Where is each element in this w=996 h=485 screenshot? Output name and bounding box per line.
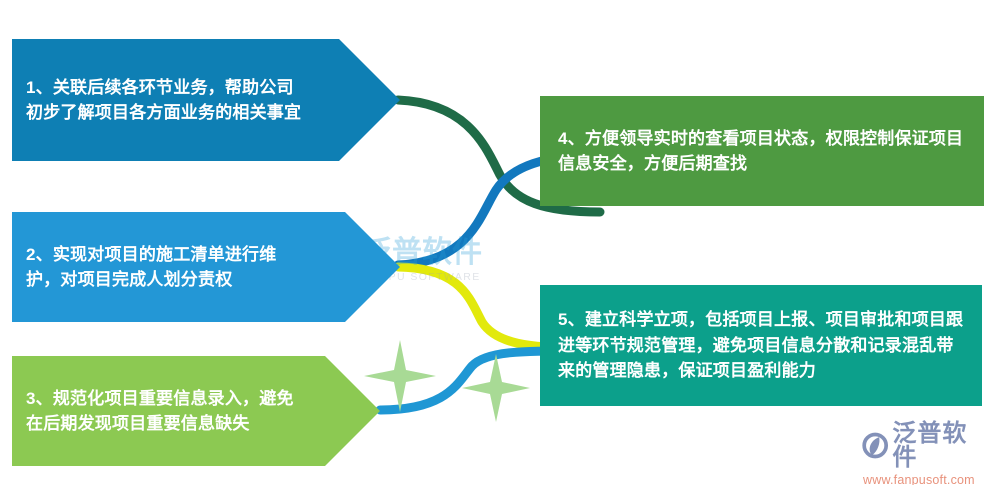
node-3-label: 3、规范化项目重要信息录入，避免在后期发现项目重要信息缺失 xyxy=(12,386,400,437)
diagram-canvas: 泛普软件 FANPU SOFTWARE 1、关联后续各环节业务，帮助公司初步了解… xyxy=(0,0,996,485)
brand-url: www.fanpusoft.com xyxy=(863,473,975,485)
node-3-arrow-box[interactable]: 3、规范化项目重要信息录入，避免在后期发现项目重要信息缺失 xyxy=(12,356,400,466)
node-2-arrow-box[interactable]: 2、实现对项目的施工清单进行维护，对项目完成人划分责权 xyxy=(12,212,400,322)
brand-row: 泛普软件 xyxy=(862,422,990,470)
brand-name-cn: 泛普软件 xyxy=(892,422,990,470)
node-1-arrow-box[interactable]: 1、关联后续各环节业务，帮助公司初步了解项目各方面业务的相关事宜 xyxy=(12,39,400,161)
sparkle-star-right xyxy=(462,354,530,422)
node-4-rect-box[interactable]: 4、方便领导实时的查看项目状态，权限控制保证项目信息安全，方便后期查找 xyxy=(540,96,984,206)
fanpu-mark-icon xyxy=(862,432,888,459)
node-5-rect-box[interactable]: 5、建立科学立项，包括项目上报、项目审批和项目跟进等环节规范管理，避免项目信息分… xyxy=(540,285,982,406)
node-1-label: 1、关联后续各环节业务，帮助公司初步了解项目各方面业务的相关事宜 xyxy=(12,75,400,126)
node-5-label: 5、建立科学立项，包括项目上报、项目审批和项目跟进等环节规范管理，避免项目信息分… xyxy=(540,307,982,384)
node-4-label: 4、方便领导实时的查看项目状态，权限控制保证项目信息安全，方便后期查找 xyxy=(540,126,984,177)
node-2-label: 2、实现对项目的施工清单进行维护，对项目完成人划分责权 xyxy=(12,242,400,293)
fanpu-logo[interactable]: 泛普软件 www.fanpusoft.com xyxy=(862,428,990,480)
